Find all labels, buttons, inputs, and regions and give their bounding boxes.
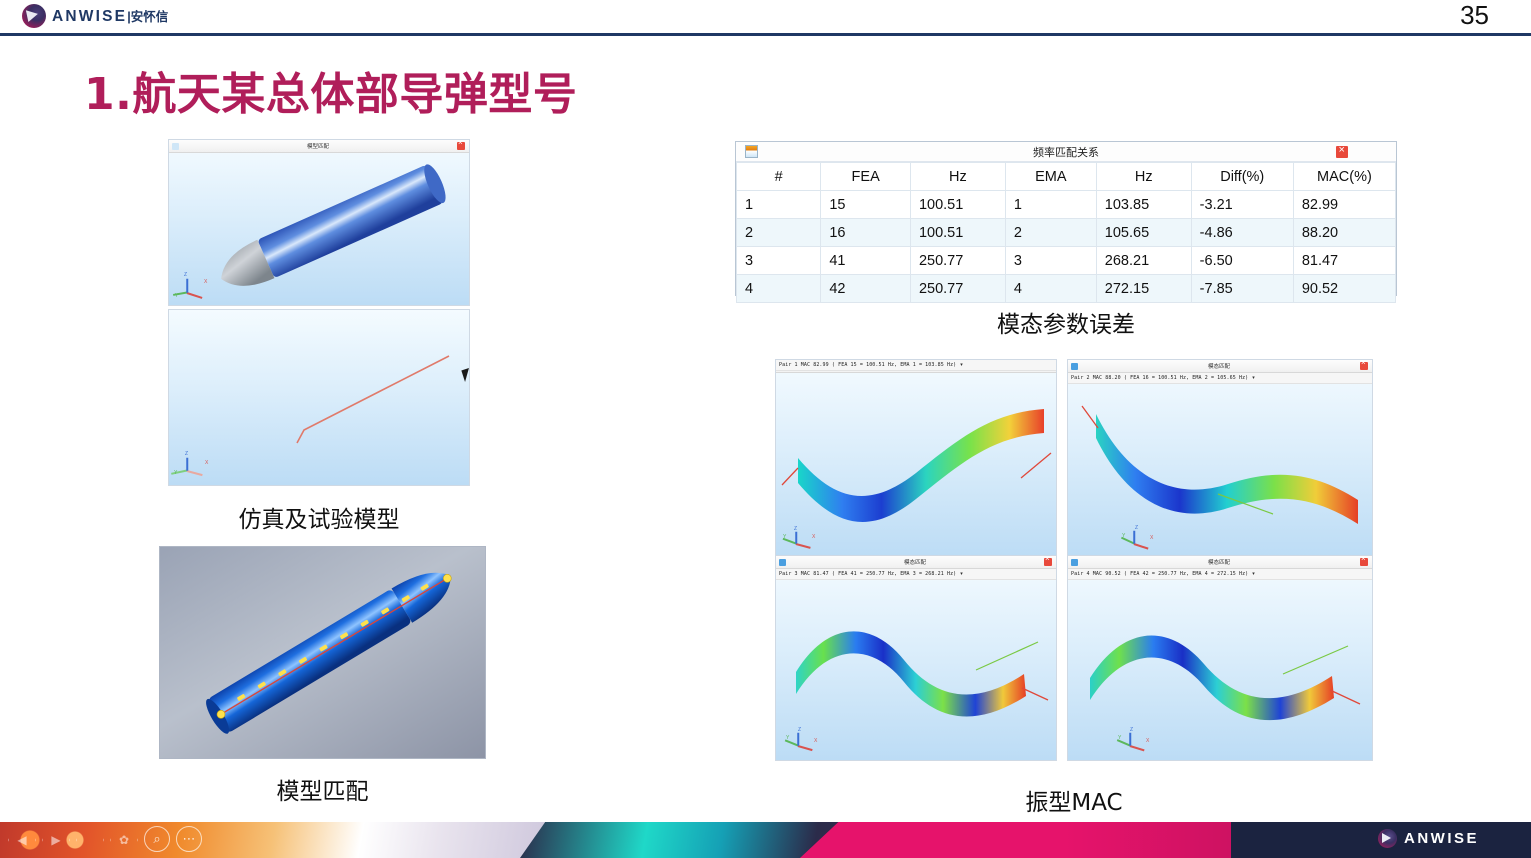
- close-icon[interactable]: [1336, 146, 1348, 158]
- cell-mac: 81.47: [1293, 247, 1395, 275]
- footer-brand-logo: ANWISE: [1378, 829, 1479, 848]
- chevron-down-icon[interactable]: ▾: [960, 571, 963, 577]
- cell-fea: 42: [821, 275, 911, 303]
- footer-brand-name: ANWISE: [1404, 830, 1479, 847]
- axis-x: [187, 470, 203, 476]
- mode-selector-4[interactable]: Pair 4 MAC 90.52 ( FEA 42 = 250.77 Hz, E…: [1068, 569, 1372, 580]
- cell-ema: 3: [1005, 247, 1096, 275]
- mode-selector-2[interactable]: Pair 2 MAC 88.20 ( FEA 16 = 100.51 Hz, E…: [1068, 373, 1372, 384]
- brand-name-cn: |安怀信: [127, 10, 168, 24]
- axis-label-z: Z: [1135, 525, 1138, 531]
- mode-shape-4: [1068, 580, 1373, 761]
- mac-panel-4[interactable]: 模态匹配 Pair 4 MAC 90.52 ( FEA 42 = 250.77 …: [1067, 555, 1373, 761]
- axis-z: [1129, 732, 1131, 745]
- caption-model-match: 模型匹配: [159, 772, 486, 806]
- close-icon[interactable]: [1360, 558, 1368, 566]
- caption-mode-mac: 振型MAC: [775, 783, 1373, 817]
- globe-icon[interactable]: ✿: [110, 826, 138, 854]
- close-icon[interactable]: [1044, 558, 1052, 566]
- viewport-title: 模型匹配: [179, 142, 457, 150]
- axis-z: [1133, 530, 1135, 543]
- cell-mac: 88.20: [1293, 219, 1395, 247]
- caption-modal-error: 模态参数误差: [735, 305, 1397, 339]
- axis-label-x: X: [1150, 535, 1153, 541]
- cell-ema-hz: 268.21: [1096, 247, 1191, 275]
- frequency-match-window[interactable]: 频率匹配关系 # FEA Hz EMA Hz Diff(%) MAC(%) 1 …: [735, 141, 1397, 296]
- cell-fea-hz: 250.77: [910, 275, 1005, 303]
- mode-selector-3[interactable]: Pair 3 MAC 81.47 ( FEA 41 = 250.77 Hz, E…: [776, 569, 1056, 580]
- col-ema: EMA: [1005, 163, 1096, 191]
- footer-art-pink: [800, 822, 1280, 858]
- axis-label-z: Z: [184, 272, 187, 278]
- cell-mac: 90.52: [1293, 275, 1395, 303]
- axis-z: [186, 457, 188, 470]
- axis-label-y: Y: [175, 293, 178, 299]
- window-icon: [1071, 363, 1078, 370]
- window-icon: [1071, 559, 1078, 566]
- axis-label-y: Y: [174, 470, 177, 476]
- cell-ema-hz: 103.85: [1096, 191, 1191, 219]
- search-icon[interactable]: ⌕: [144, 826, 170, 852]
- mac-panel-3[interactable]: 模态匹配 Pair 3 MAC 81.47 ( FEA 41 = 250.77 …: [775, 555, 1057, 761]
- cell-index: 1: [737, 191, 821, 219]
- viewport-titlebar: 模态匹配: [1068, 360, 1372, 373]
- table-row[interactable]: 1 15 100.51 1 103.85 -3.21 82.99: [737, 191, 1396, 219]
- brand-name: ANWISE|安怀信: [52, 6, 168, 26]
- page-title: 1.航天某总体部导弹型号: [84, 58, 577, 122]
- window-icon: [779, 559, 786, 566]
- footer-icon-group: ◀ ▶ ✿ ⌕ ⋯: [8, 826, 202, 854]
- col-index: #: [737, 163, 821, 191]
- axis-label-z: Z: [798, 727, 801, 733]
- anwise-logo-icon: [1378, 829, 1397, 848]
- axis-label-z: Z: [794, 526, 797, 532]
- cell-ema: 4: [1005, 275, 1096, 303]
- axis-x: [1130, 745, 1145, 751]
- axis-z: [797, 732, 799, 745]
- cell-index: 3: [737, 247, 821, 275]
- chevron-down-icon[interactable]: ▾: [1252, 571, 1255, 577]
- axis-label-z: Z: [1130, 727, 1133, 733]
- axis-triad: X Z Y: [175, 443, 215, 479]
- cell-mac: 82.99: [1293, 191, 1395, 219]
- mode-shape-2: [1068, 384, 1373, 559]
- col-mac: MAC(%): [1293, 163, 1395, 191]
- brand-name-en: ANWISE: [52, 8, 127, 25]
- close-icon[interactable]: [1360, 362, 1368, 370]
- axis-triad: Z Y X: [1122, 516, 1162, 552]
- col-fea: FEA: [821, 163, 911, 191]
- window-icon: [172, 143, 179, 150]
- viewport-title: 模态匹配: [1078, 362, 1360, 370]
- axis-triad: X Z Y: [784, 516, 824, 552]
- cell-ema-hz: 272.15: [1096, 275, 1191, 303]
- axis-label-y: Y: [1122, 533, 1125, 539]
- table-row[interactable]: 3 41 250.77 3 268.21 -6.50 81.47: [737, 247, 1396, 275]
- viewport-titlebar: 模态匹配: [776, 556, 1056, 569]
- mode-selector-label: Pair 3 MAC 81.47 ( FEA 41 = 250.77 Hz, E…: [776, 571, 956, 577]
- axis-triad: X Z Y: [175, 265, 215, 301]
- more-icon[interactable]: ⋯: [176, 826, 202, 852]
- chevron-down-icon[interactable]: ▾: [1252, 375, 1255, 381]
- axis-triad: Z Y X: [1118, 718, 1158, 754]
- axis-label-x: X: [1146, 738, 1149, 744]
- cell-fea-hz: 250.77: [910, 247, 1005, 275]
- page-number: 35: [1460, 0, 1489, 31]
- axis-x: [796, 543, 811, 548]
- pattern-icon: [76, 826, 104, 854]
- header-divider: [0, 33, 1531, 36]
- table-window-titlebar: 频率匹配关系: [736, 142, 1396, 162]
- caption-sim-test-model: 仿真及试验模型: [168, 500, 470, 534]
- cell-diff: -7.85: [1191, 275, 1293, 303]
- cell-ema: 1: [1005, 191, 1096, 219]
- cell-fea: 41: [821, 247, 911, 275]
- frequency-match-table: # FEA Hz EMA Hz Diff(%) MAC(%) 1 15 100.…: [736, 162, 1396, 303]
- axis-label-x: X: [812, 534, 815, 540]
- axis-label-x: X: [204, 279, 207, 285]
- mode-selector-label: Pair 2 MAC 88.20 ( FEA 16 = 100.51 Hz, E…: [1068, 375, 1248, 381]
- cell-fea: 16: [821, 219, 911, 247]
- media-play-icon[interactable]: ▶: [42, 826, 70, 854]
- table-row[interactable]: 4 42 250.77 4 272.15 -7.85 90.52: [737, 275, 1396, 303]
- axis-label-y: Y: [1118, 735, 1121, 741]
- axis-label-x: X: [814, 738, 817, 744]
- axis-label-z: Z: [185, 451, 188, 457]
- close-icon[interactable]: [457, 142, 465, 150]
- mode-selector-label: Pair 1 MAC 82.99 ( FEA 15 = 100.51 Hz, E…: [776, 362, 956, 368]
- axis-x: [1134, 543, 1149, 549]
- mode-selector-1[interactable]: Pair 1 MAC 82.99 ( FEA 15 = 100.51 Hz, E…: [776, 360, 1056, 371]
- cell-fea-hz: 100.51: [910, 219, 1005, 247]
- anwise-logo-icon: [22, 4, 46, 28]
- cell-diff: -3.21: [1191, 191, 1293, 219]
- axis-triad: Z Y X: [786, 718, 826, 754]
- axis-x: [187, 292, 203, 298]
- col-diff: Diff(%): [1191, 163, 1293, 191]
- mode-selector-label: Pair 4 MAC 90.52 ( FEA 42 = 250.77 Hz, E…: [1068, 571, 1248, 577]
- axis-label-y: Y: [783, 534, 786, 540]
- axis-label-x: X: [205, 460, 208, 466]
- cell-ema: 2: [1005, 219, 1096, 247]
- axis-label-y: Y: [786, 735, 789, 741]
- col-fea-hz: Hz: [910, 163, 1005, 191]
- table-header-row: # FEA Hz EMA Hz Diff(%) MAC(%): [737, 163, 1396, 191]
- mac-panel-1[interactable]: 模态匹配 Pair 1 MAC 82.99 ( FEA 15 = 100.51 …: [775, 359, 1057, 559]
- viewport-title: 模态匹配: [1078, 558, 1360, 566]
- col-ema-hz: Hz: [1096, 163, 1191, 191]
- slide-footer: ◀ ▶ ✿ ⌕ ⋯ ANWISE: [0, 822, 1531, 858]
- table-row[interactable]: 2 16 100.51 2 105.65 -4.86 88.20: [737, 219, 1396, 247]
- mac-panel-2[interactable]: 模态匹配 Pair 2 MAC 88.20 ( FEA 16 = 100.51 …: [1067, 359, 1373, 559]
- viewport-title: 模态匹配: [786, 558, 1044, 566]
- viewport-titlebar: 模态匹配: [1068, 556, 1372, 569]
- viewport-wireframe-beam[interactable]: X Z Y: [168, 309, 470, 486]
- figure-model-match: [159, 546, 486, 759]
- table-window-title: 频率匹配关系: [736, 144, 1396, 160]
- cell-fea-hz: 100.51: [910, 191, 1005, 219]
- cell-index: 2: [737, 219, 821, 247]
- cell-diff: -4.86: [1191, 219, 1293, 247]
- axis-z: [795, 531, 797, 543]
- axis-x: [798, 745, 813, 751]
- media-back-icon[interactable]: ◀: [8, 826, 36, 854]
- chevron-down-icon[interactable]: ▾: [960, 362, 963, 368]
- viewport-solid-missile[interactable]: 模型匹配 X Z Y: [168, 139, 470, 306]
- cell-index: 4: [737, 275, 821, 303]
- slide-header: ANWISE|安怀信 35: [0, 0, 1531, 33]
- cell-ema-hz: 105.65: [1096, 219, 1191, 247]
- cell-diff: -6.50: [1191, 247, 1293, 275]
- missile-node-model: [160, 547, 486, 759]
- axis-z: [186, 278, 188, 292]
- brand-logo: ANWISE|安怀信: [22, 4, 168, 28]
- viewport-titlebar: 模型匹配: [169, 140, 469, 153]
- cell-fea: 15: [821, 191, 911, 219]
